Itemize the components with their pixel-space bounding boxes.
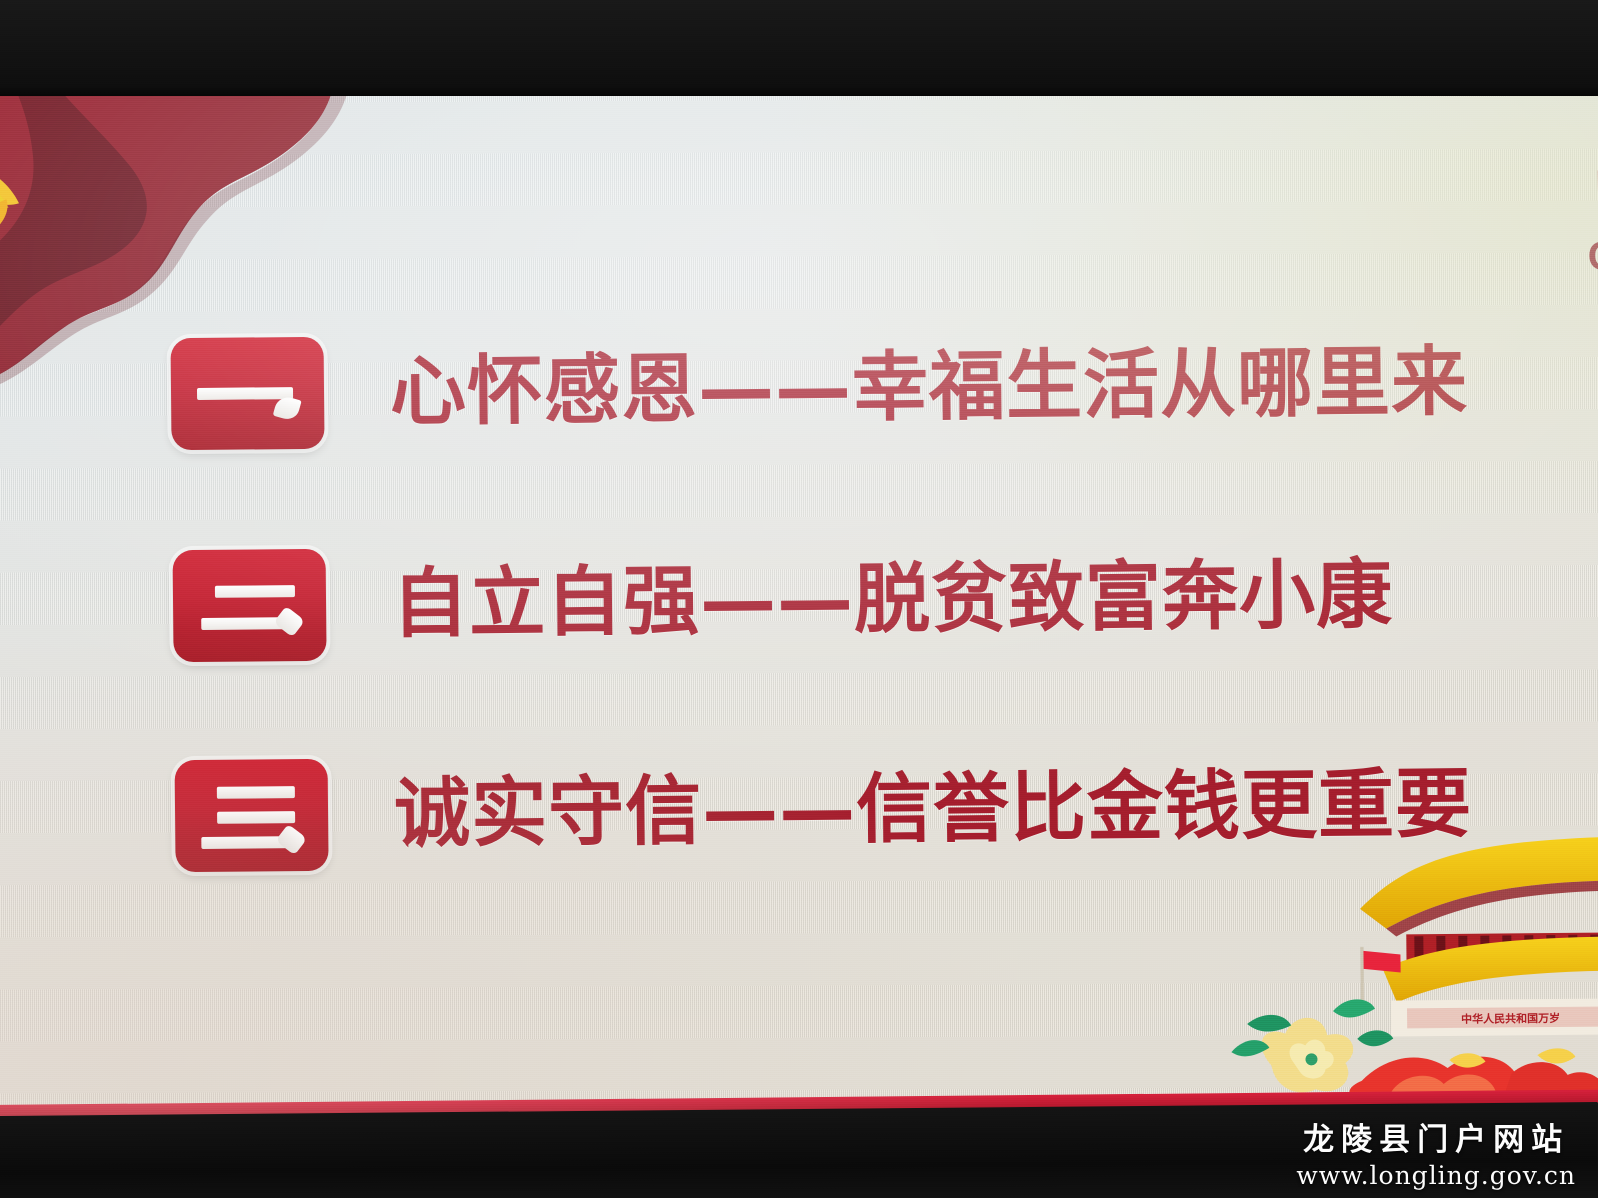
watermark: 龙陵县门户网站 www.longling.gov.cn (1296, 1114, 1576, 1190)
list-item: 心怀感恩——幸福生活从哪里来 (171, 326, 1469, 450)
numeral-badge-one (171, 337, 325, 450)
numeral-badge-three (175, 759, 329, 872)
screen-bezel-top (0, 0, 1598, 96)
bullet-text-three: 诚实守信——信誉比金钱更重要 (394, 766, 1473, 852)
watermark-url: www.longling.gov.cn (1296, 1161, 1576, 1190)
slide-photograph: 巨 C 心怀感恩——幸福生活从哪里来 (0, 0, 1598, 1198)
slide-canvas: 巨 C 心怀感恩——幸福生活从哪里来 (0, 62, 1598, 1118)
list-item: 诚实守信——信誉比金钱更重要 (175, 748, 1473, 872)
bullet-text-one: 心怀感恩——幸福生活从哪里来 (390, 344, 1469, 430)
slide-surface: 巨 C 心怀感恩——幸福生活从哪里来 (0, 62, 1598, 1118)
bullet-text-two: 自立自强——脱贫致富奔小康 (392, 557, 1394, 643)
numeral-badge-two (173, 549, 327, 662)
list-item: 自立自强——脱贫致富奔小康 (173, 539, 1394, 663)
numeral-one-glyph (171, 337, 325, 450)
numeral-two-glyph (173, 549, 327, 662)
numeral-three-glyph (175, 759, 329, 872)
slide-bullet-list: 心怀感恩——幸福生活从哪里来 自立自强——脱贫致富奔小康 (0, 62, 1598, 1118)
watermark-site-name: 龙陵县门户网站 (1296, 1114, 1576, 1159)
